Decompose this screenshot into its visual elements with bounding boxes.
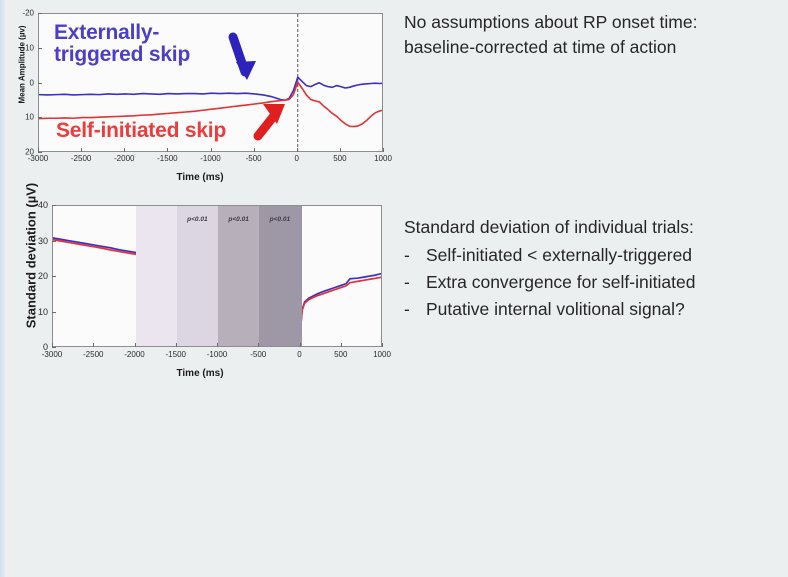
- slide-bullet: -Putative internal volitional signal?: [404, 297, 788, 322]
- y-tick-mark: [52, 241, 56, 242]
- series-externally-triggered-skip: [39, 77, 383, 100]
- x-tick-label: -500: [250, 350, 266, 359]
- p-value-label: p<0.01: [270, 216, 290, 223]
- x-tick-label: -1000: [200, 154, 220, 163]
- x-tick-label: 1000: [373, 350, 391, 359]
- x-tick-mark: [340, 148, 341, 152]
- bullet-marker: -: [404, 270, 426, 295]
- self-initiated-label: Self-initiated skip: [56, 120, 226, 142]
- bullet-marker: -: [404, 297, 426, 322]
- slide-text-bottom-title: Standard deviation of individual trials:: [404, 215, 788, 240]
- y-tick-mark: [52, 347, 56, 348]
- standard-deviation-figure: Standard deviation (µV) p<0.01p<0.01p<0.…: [0, 190, 400, 385]
- slide-bullet: -Extra convergence for self-initiated: [404, 270, 788, 295]
- x-tick-label: 1000: [374, 154, 392, 163]
- x-tick-label: 0: [295, 154, 299, 163]
- x-tick-label: -2500: [71, 154, 91, 163]
- x-tick-label: -2500: [83, 350, 103, 359]
- x-tick-label: 500: [333, 154, 346, 163]
- y-tick-label: 20: [22, 271, 48, 281]
- mean-amplitude-y-axis-label: Mean Amplitude (µv): [18, 5, 27, 125]
- y-tick-label: 10: [22, 307, 48, 317]
- x-tick-label: -1500: [157, 154, 177, 163]
- x-tick-label: 0: [297, 350, 301, 359]
- x-tick-mark: [341, 343, 342, 347]
- y-tick-label: 30: [22, 236, 48, 246]
- slide-bullet-list: -Self-initiated < externally-triggered-E…: [404, 243, 788, 325]
- significance-band: [259, 206, 301, 346]
- mean-amplitude-figure: Mean Amplitude (µv) -3000-2500-2000-1500…: [0, 0, 400, 190]
- slide-bullet: -Self-initiated < externally-triggered: [404, 243, 788, 268]
- x-tick-mark: [217, 343, 218, 347]
- x-tick-label: -1000: [207, 350, 227, 359]
- y-tick-label: 10: [12, 113, 34, 122]
- externally-triggered-label: Externally- triggered skip: [54, 22, 190, 66]
- x-tick-mark: [383, 148, 384, 152]
- standard-deviation-x-axis-label: Time (ms): [0, 368, 400, 379]
- x-tick-mark: [254, 148, 255, 152]
- bullet-text: Self-initiated < externally-triggered: [426, 243, 692, 268]
- y-tick-mark: [52, 205, 56, 206]
- x-tick-label: -2000: [114, 154, 134, 163]
- standard-deviation-plot-area: p<0.01p<0.01p<0.01: [52, 205, 382, 347]
- y-tick-mark: [52, 312, 56, 313]
- mean-amplitude-x-axis-label: Time (ms): [0, 172, 400, 183]
- y-tick-mark: [38, 83, 42, 84]
- y-tick-label: 0: [12, 78, 34, 87]
- x-tick-mark: [297, 148, 298, 152]
- y-tick-mark: [38, 117, 42, 118]
- x-tick-mark: [211, 148, 212, 152]
- significance-band: [177, 206, 219, 346]
- p-value-label: p<0.01: [228, 216, 248, 223]
- x-tick-label: -500: [246, 154, 262, 163]
- bullet-text: Extra convergence for self-initiated: [426, 270, 695, 295]
- significance-band: [136, 206, 178, 346]
- x-tick-label: -2000: [124, 350, 144, 359]
- significance-band: [218, 206, 260, 346]
- x-tick-mark: [382, 343, 383, 347]
- y-tick-label: -10: [12, 43, 34, 52]
- x-tick-mark: [258, 343, 259, 347]
- bullet-text: Putative internal volitional signal?: [426, 297, 685, 322]
- x-tick-mark: [81, 148, 82, 152]
- x-tick-mark: [124, 148, 125, 152]
- y-tick-label: 0: [22, 342, 48, 352]
- x-tick-mark: [167, 148, 168, 152]
- x-tick-label: -1500: [166, 350, 186, 359]
- y-tick-label: -20: [12, 9, 34, 18]
- x-tick-label: 500: [334, 350, 347, 359]
- y-tick-mark: [52, 276, 56, 277]
- x-tick-mark: [135, 343, 136, 347]
- slide-text-top: No assumptions about RP onset time: base…: [404, 10, 786, 60]
- y-tick-mark: [38, 13, 42, 14]
- y-tick-label: 20: [12, 148, 34, 157]
- x-tick-mark: [176, 343, 177, 347]
- y-tick-label: 40: [22, 200, 48, 210]
- y-tick-mark: [38, 48, 42, 49]
- y-tick-mark: [38, 152, 42, 153]
- x-tick-mark: [93, 343, 94, 347]
- bullet-marker: -: [404, 243, 426, 268]
- x-tick-mark: [300, 343, 301, 347]
- p-value-label: p<0.01: [187, 216, 207, 223]
